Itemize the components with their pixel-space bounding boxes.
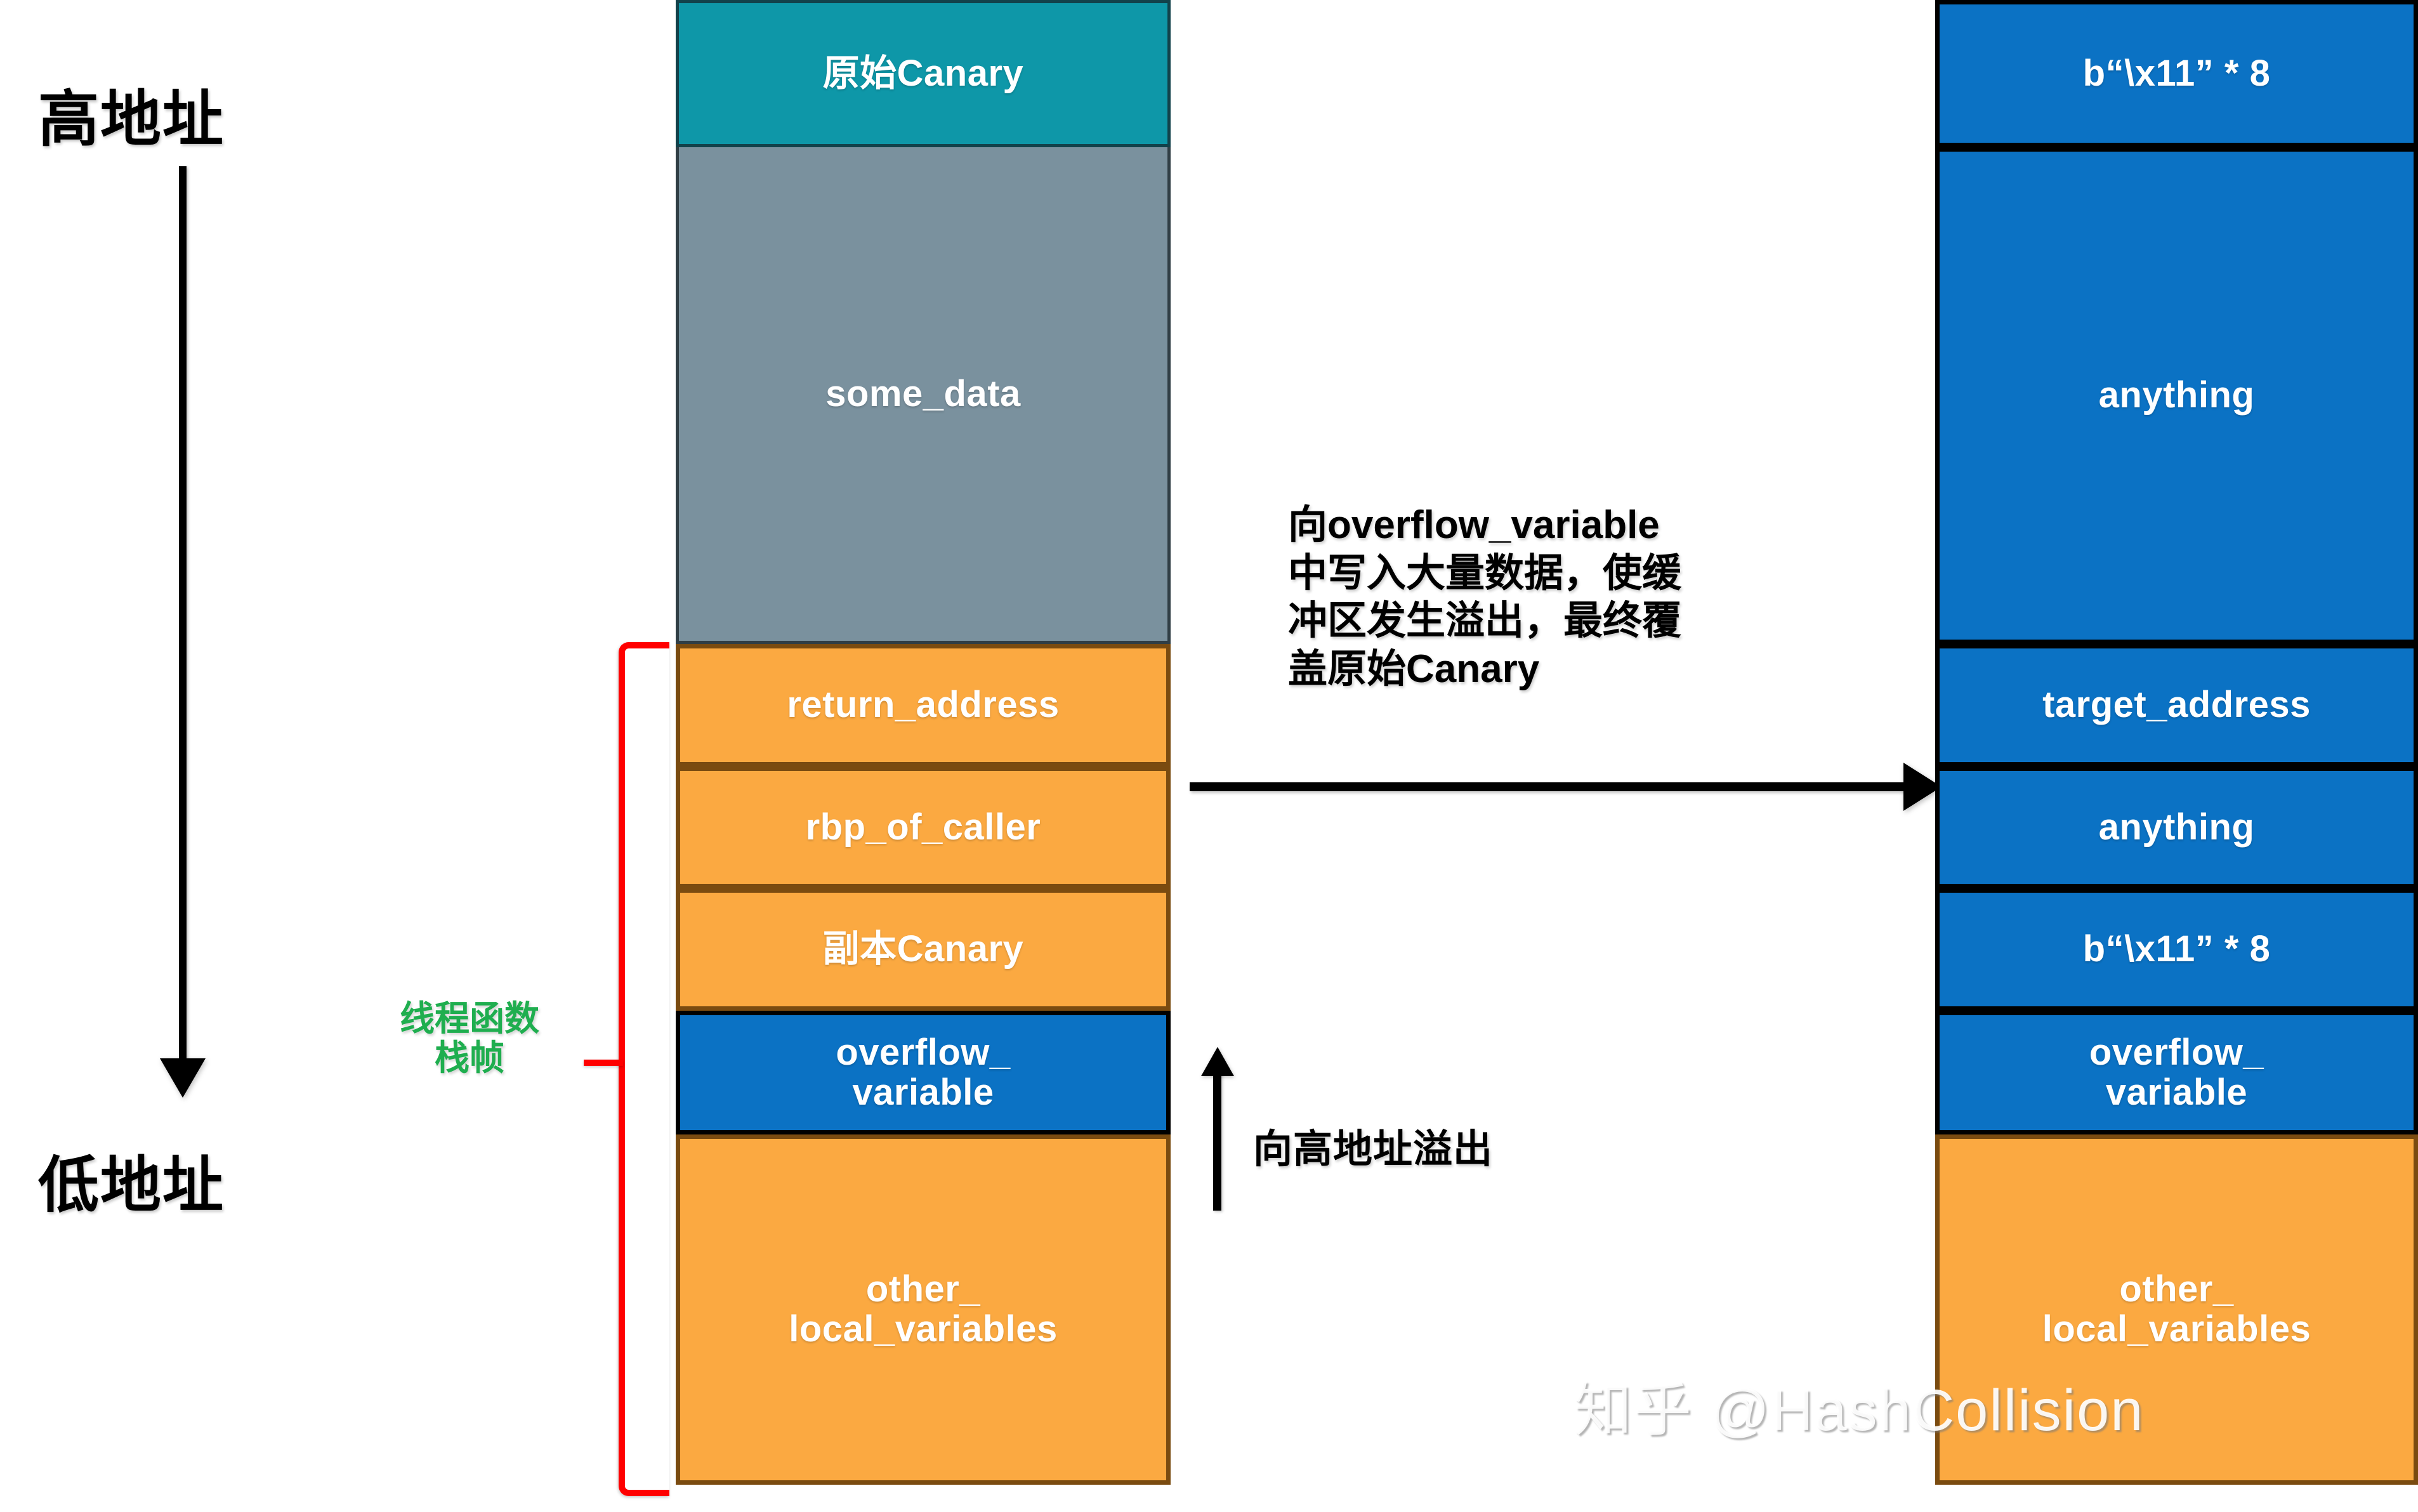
diagram-canvas: 高地址 低地址 线程函数 栈帧 原始Canary some_data retur…	[0, 0, 2418, 1512]
stack-frame-bracket	[619, 642, 669, 1496]
grow-direction-arrow-head	[1201, 1047, 1234, 1076]
grow-direction-label: 向高地址溢出	[1253, 1117, 1493, 1174]
original-stack-layout: 原始Canary some_data return_address rbp_of…	[676, 0, 1171, 1485]
stack-frame-label: 线程函数 栈帧	[343, 999, 596, 1077]
overflow-block-anything-rbp[interactable]: anything	[1935, 766, 2418, 888]
overflow-block-anything-top[interactable]: anything	[1935, 147, 2418, 644]
overflow-explanation-text: 向overflow_variable 中写入大量数据，使缓 冲区发生溢出，最终覆…	[1288, 501, 1922, 694]
overflow-block-canary-overwrite[interactable]: b“\x11” * 8	[1935, 0, 2418, 147]
stack-block-original-canary[interactable]: 原始Canary	[676, 0, 1171, 147]
overflow-arrow-line	[1190, 782, 1910, 791]
stack-block-copy-canary[interactable]: 副本Canary	[676, 888, 1171, 1011]
high-address-label: 高地址	[38, 70, 225, 158]
stack-block-other-local-variables[interactable]: other_ local_variables	[676, 1134, 1171, 1485]
address-axis-line	[179, 166, 187, 1066]
overflow-block-overflow-variable[interactable]: overflow_ variable	[1935, 1011, 2418, 1134]
address-axis-arrowhead	[160, 1058, 206, 1098]
overflow-block-target-address[interactable]: target_address	[1935, 644, 2418, 766]
grow-direction-arrow-line	[1213, 1072, 1221, 1211]
overflowed-stack-layout: b“\x11” * 8 anything target_address anyt…	[1935, 0, 2418, 1485]
low-address-label: 低地址	[38, 1136, 225, 1224]
stack-block-some-data[interactable]: some_data	[676, 147, 1171, 644]
stack-block-overflow-variable[interactable]: overflow_ variable	[676, 1011, 1171, 1134]
overflow-block-other-local-variables[interactable]: other_ local_variables	[1935, 1134, 2418, 1485]
stack-block-return-address[interactable]: return_address	[676, 644, 1171, 766]
stack-block-rbp-of-caller[interactable]: rbp_of_caller	[676, 766, 1171, 888]
overflow-block-copy-canary-overwrite[interactable]: b“\x11” * 8	[1935, 888, 2418, 1011]
